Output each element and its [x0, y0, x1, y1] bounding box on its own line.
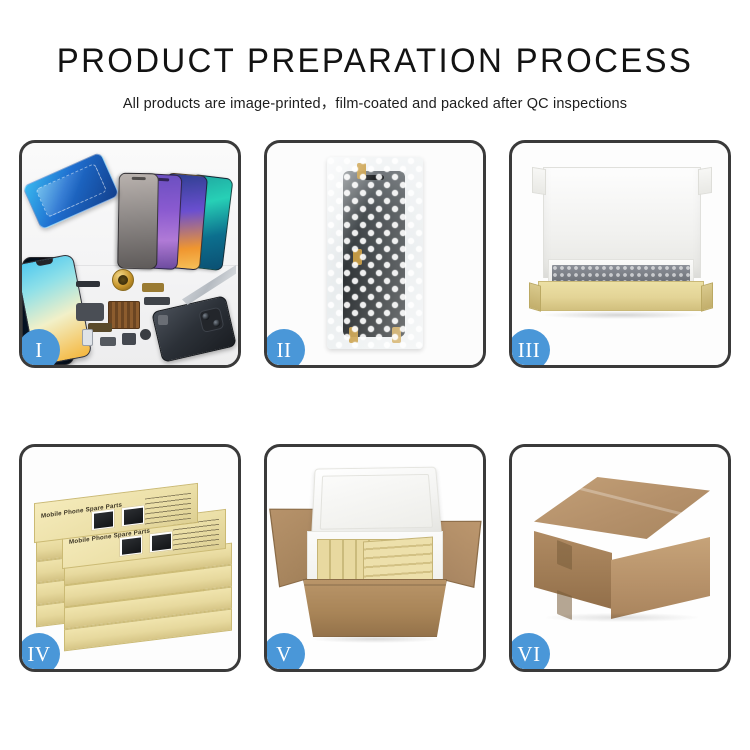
process-step-2: II [264, 140, 486, 368]
step-badge-3: III [509, 329, 550, 368]
yellow-box-base-icon [538, 281, 704, 311]
step-badge-6: VI [509, 633, 550, 672]
bubble-wrap-sleeve-icon [327, 157, 423, 349]
speaker-coil-icon [112, 269, 134, 291]
step-1-illustration [22, 143, 238, 365]
drop-shadow [546, 613, 698, 622]
spare-parts-group [74, 267, 204, 359]
header: PRODUCT PREPARATION PROCESS All products… [0, 0, 750, 113]
box-window-icon [149, 530, 173, 553]
step-badge-2: II [264, 329, 305, 368]
product-preparation-infographic: PRODUCT PREPARATION PROCESS All products… [0, 0, 750, 750]
process-step-4: Mobile Phone Spare Parts Mobile Phone Sp… [19, 444, 241, 672]
flex-cable-icon [76, 303, 104, 321]
process-steps-grid: I II [19, 140, 731, 672]
step-badge-1: I [19, 329, 60, 368]
page-title: PRODUCT PREPARATION PROCESS [11, 0, 739, 81]
box-window-icon [121, 504, 145, 527]
phone-grey-icon [117, 173, 159, 270]
process-step-5: V [264, 444, 486, 672]
process-step-3: III [509, 140, 731, 368]
screw-set-icon [158, 315, 168, 325]
plastic-sheen [327, 157, 423, 349]
round-sensor-icon [140, 329, 151, 340]
box-spec-lines [145, 493, 191, 525]
chip-grid-icon [108, 301, 140, 329]
box-window-icon [119, 534, 143, 557]
step-4-illustration: Mobile Phone Spare Parts Mobile Phone Sp… [22, 447, 238, 669]
vibrator-motor-icon [122, 333, 136, 345]
step-badge-4: IV [19, 633, 60, 672]
ribbon-cable-icon [144, 297, 170, 305]
step-6-illustration [512, 447, 728, 669]
box-stack-icon: Mobile Phone Spare Parts Mobile Phone Sp… [26, 469, 236, 651]
notch-icon [132, 177, 146, 180]
bracket-icon [100, 337, 116, 346]
carton-front-wall [303, 579, 447, 637]
page-subtitle: All products are image-printed，film-coat… [0, 81, 750, 113]
drop-shadow [542, 311, 700, 319]
sim-tray-icon [82, 329, 93, 346]
process-step-1: I [19, 140, 241, 368]
step-badge-5: V [264, 633, 305, 672]
gold-contact-icon [142, 283, 164, 292]
step-3-illustration [512, 143, 728, 365]
box-window-icon [91, 508, 115, 531]
antenna-strip-icon [76, 281, 100, 287]
foam-lid-icon [311, 467, 442, 538]
drop-shadow [311, 635, 439, 643]
step-5-illustration [267, 447, 483, 669]
step-2-illustration [267, 143, 483, 365]
process-step-6: VI [509, 444, 731, 672]
yellow-boxes-row-icon [363, 537, 433, 586]
